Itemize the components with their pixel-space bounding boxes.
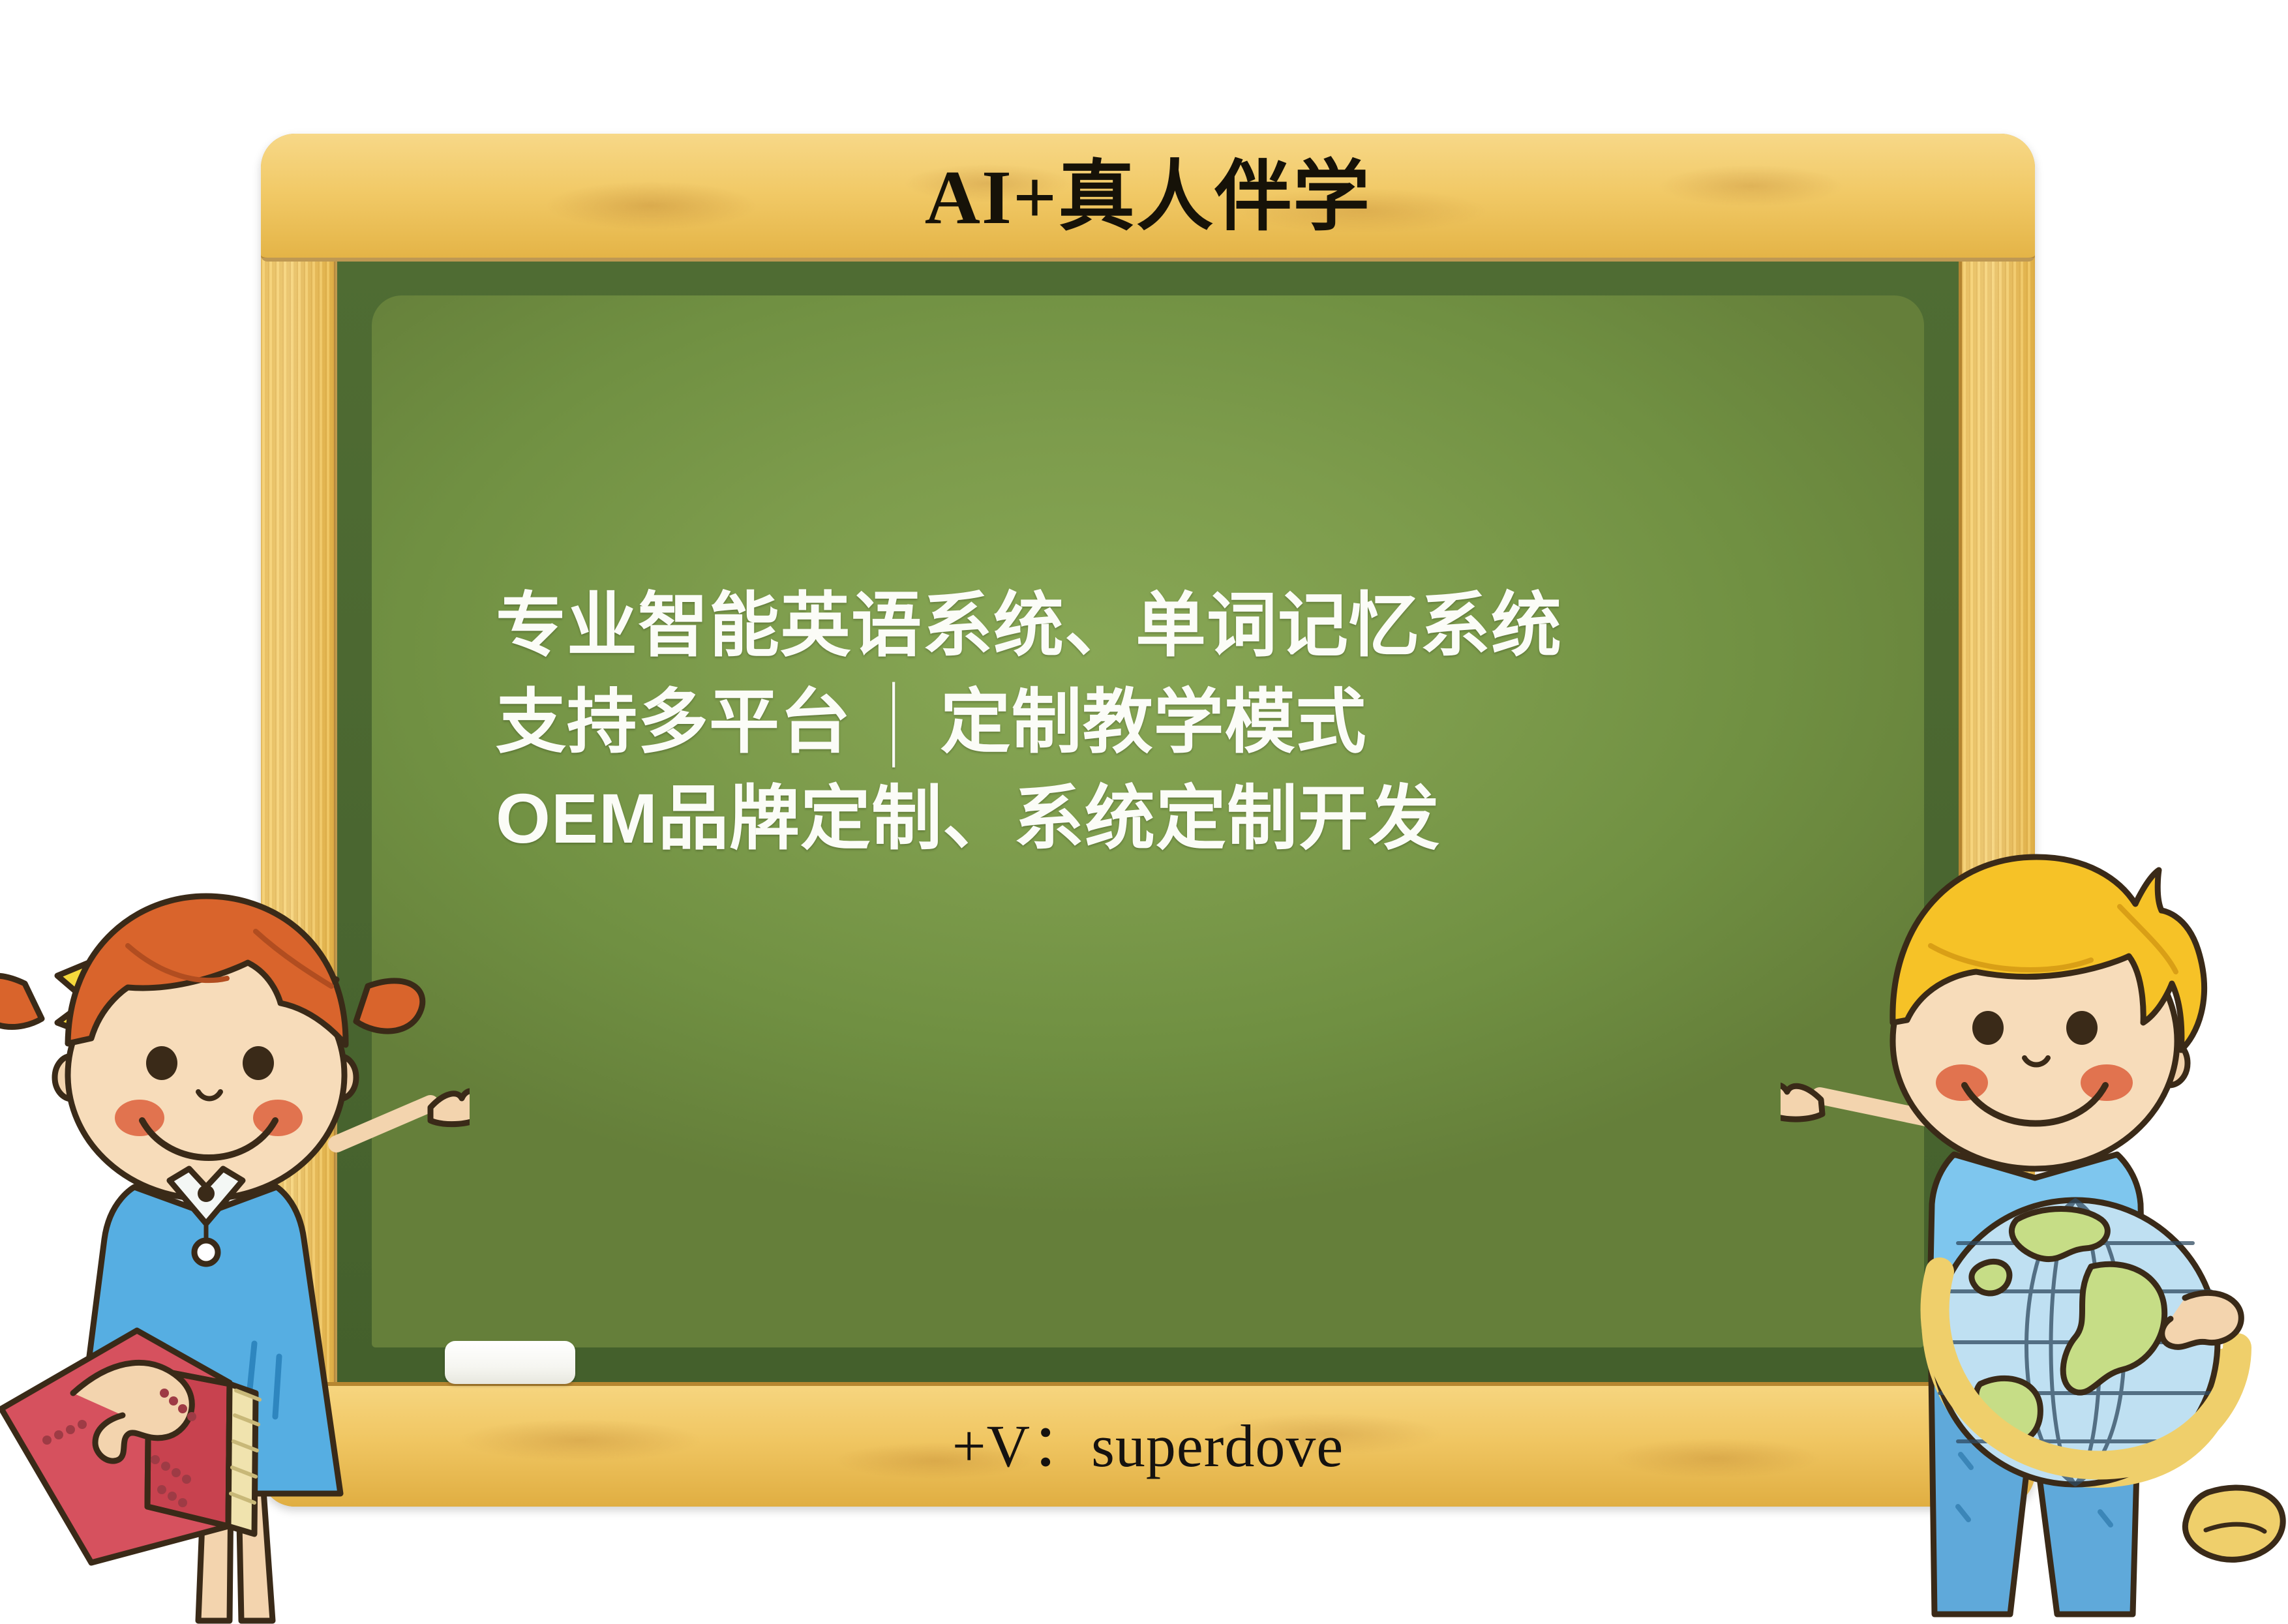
chalk-line-2: 支持多平台│定制教学模式: [496, 674, 1800, 770]
chalk-line-2-before: 支持多平台: [496, 682, 851, 761]
chalk-separator-icon: │: [883, 674, 908, 770]
chalk-text-block: 专业智能英语系统、单词记忆系统 支持多平台│定制教学模式 OEM品牌定制、系统定…: [496, 577, 1800, 867]
chalk-line-3: OEM品牌定制、系统定制开发: [496, 770, 1800, 867]
chalk-line-1: 专业智能英语系统、单词记忆系统: [496, 577, 1800, 674]
contact-handle: +V：superdove: [261, 1388, 2035, 1504]
chalkboard: AI+真人伴学 专业智能英语系统、单词记忆系统 支持多平台│定制教学模式 OEM…: [261, 134, 2035, 1507]
girl-student: [0, 848, 470, 1624]
chalk-line-2-after: 定制教学模式: [941, 682, 1367, 761]
boy-student: [1781, 815, 2288, 1624]
poster-canvas: AI+真人伴学 专业智能英语系统、单词记忆系统 支持多平台│定制教学模式 OEM…: [0, 0, 2288, 1617]
page-title: AI+真人伴学: [261, 139, 2035, 256]
